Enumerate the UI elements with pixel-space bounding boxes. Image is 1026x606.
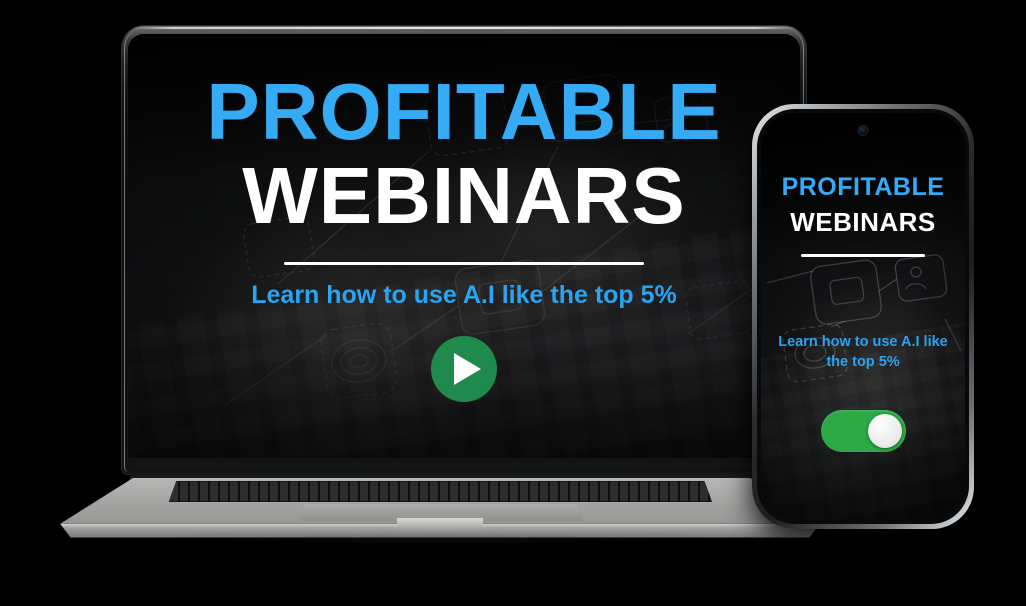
phone-subtitle: Learn how to use A.I like the top 5%: [774, 333, 952, 372]
play-triangle-icon: [454, 353, 481, 385]
laptop-keyboard[interactable]: [169, 481, 712, 502]
laptop-front-notch: [397, 518, 483, 531]
phone-headline-primary: PROFITABLE: [782, 175, 945, 200]
laptop-headline-secondary: WEBINARS: [242, 155, 686, 237]
play-button[interactable]: [431, 336, 497, 402]
laptop-screen-content: PROFITABLE WEBINARS Learn how to use A.I…: [128, 34, 800, 458]
toggle-knob-icon: [868, 414, 902, 448]
phone-screen-content: PROFITABLE WEBINARS Learn how to use A.I…: [761, 113, 965, 520]
laptop-base: [60, 478, 820, 540]
phone-screen: PROFITABLE WEBINARS Learn how to use A.I…: [761, 113, 965, 520]
phone-divider-rule: [801, 254, 925, 257]
phone-toggle-switch[interactable]: [821, 410, 906, 452]
laptop-screen: PROFITABLE WEBINARS Learn how to use A.I…: [128, 34, 800, 458]
laptop-device: PROFITABLE WEBINARS Learn how to use A.I…: [60, 22, 820, 542]
laptop-divider-rule: [284, 262, 644, 265]
phone-headline-secondary: WEBINARS: [790, 209, 936, 235]
phone-front-camera-icon: [859, 126, 868, 135]
laptop-subtitle: Learn how to use A.I like the top 5%: [251, 281, 677, 310]
scene-root: PROFITABLE WEBINARS Learn how to use A.I…: [0, 0, 1026, 606]
laptop-drop-shadow: [83, 538, 797, 548]
laptop-headline-primary: PROFITABLE: [206, 74, 721, 151]
phone-device: PROFITABLE WEBINARS Learn how to use A.I…: [752, 104, 974, 529]
